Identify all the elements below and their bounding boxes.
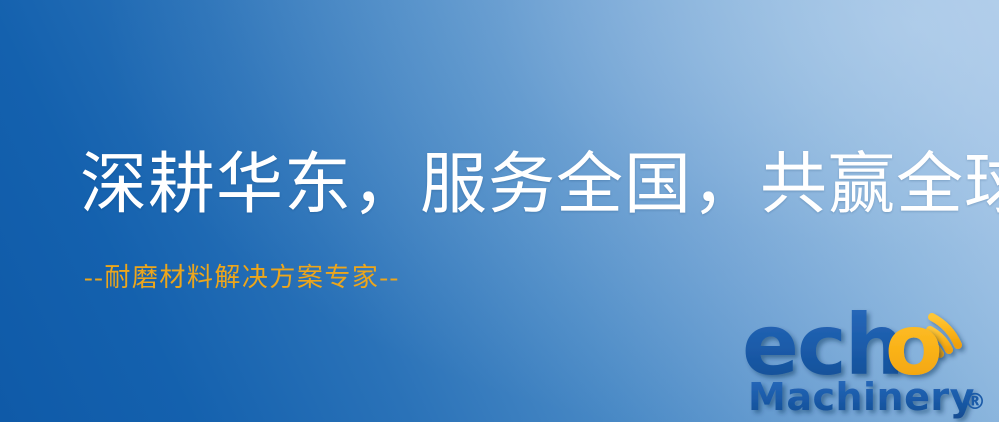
echo-machinery-logo[interactable]: ech o Machinery ® xyxy=(742,292,999,422)
registered-trademark-icon: ® xyxy=(964,390,986,415)
banner-headline: 深耕华东，服务全国，共赢全球 xyxy=(80,152,999,219)
hero-banner: 深耕华东，服务全国，共赢全球 --耐磨材料解决方案专家-- xyxy=(0,0,999,422)
logo-text-machinery: Machinery xyxy=(748,375,975,419)
banner-subtitle: --耐磨材料解决方案专家-- xyxy=(84,265,400,291)
